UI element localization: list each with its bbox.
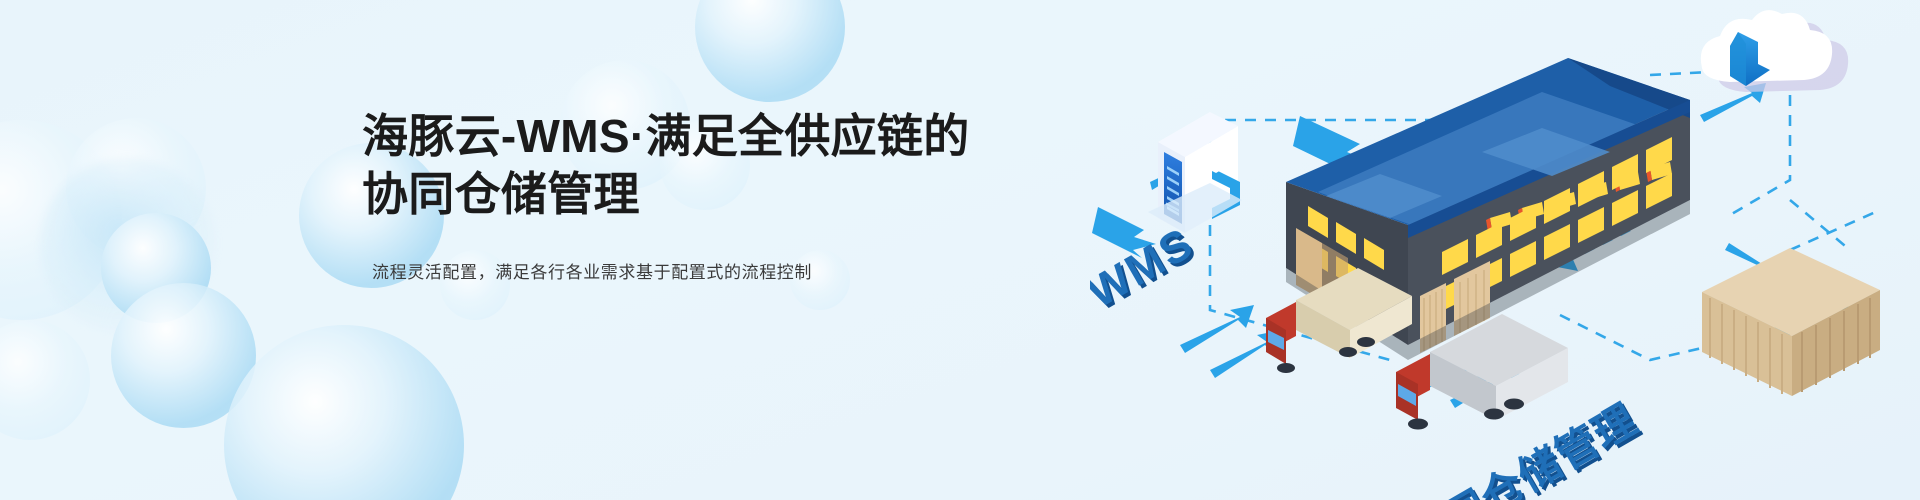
bubble-decoration bbox=[66, 118, 206, 258]
illustration-label-left: 海豚云 WMS 海豚云 WMS bbox=[1090, 218, 1205, 396]
server-rack-icon bbox=[1148, 112, 1242, 233]
banner-copy: 海豚云-WMS·满足全供应链的 协同仓储管理 流程灵活配置，满足各行各业需求基于… bbox=[362, 108, 1062, 283]
illustration-label-right: 协同仓储管理 协同仓储管理 bbox=[1398, 395, 1648, 500]
bubble-decoration bbox=[40, 158, 215, 333]
bubble-decoration bbox=[0, 120, 122, 320]
page-subtitle: 流程灵活配置，满足各行各业需求基于配置式的流程控制 bbox=[372, 258, 1062, 283]
promo-banner: 海豚云-WMS·满足全供应链的 协同仓储管理 流程灵活配置，满足各行各业需求基于… bbox=[0, 0, 1920, 500]
page-title: 海豚云-WMS·满足全供应链的 协同仓储管理 bbox=[362, 108, 1062, 224]
bubble-decoration bbox=[101, 213, 211, 323]
bubble-decoration bbox=[695, 0, 845, 102]
cloud-icon bbox=[1701, 10, 1848, 92]
container-icon bbox=[1702, 248, 1880, 396]
label-right-text-top: 协同仓储管理 bbox=[1398, 395, 1645, 500]
label-left-text-top: 海豚云 WMS bbox=[1090, 218, 1202, 393]
bubble-decoration bbox=[111, 283, 256, 428]
warehouse-illustration: 海豚云 WMS 海豚云 WMS 协同仓储管理 协同仓储管理 bbox=[1090, 0, 1920, 500]
bubble-decoration bbox=[0, 320, 90, 440]
bubble-decoration bbox=[224, 325, 464, 500]
